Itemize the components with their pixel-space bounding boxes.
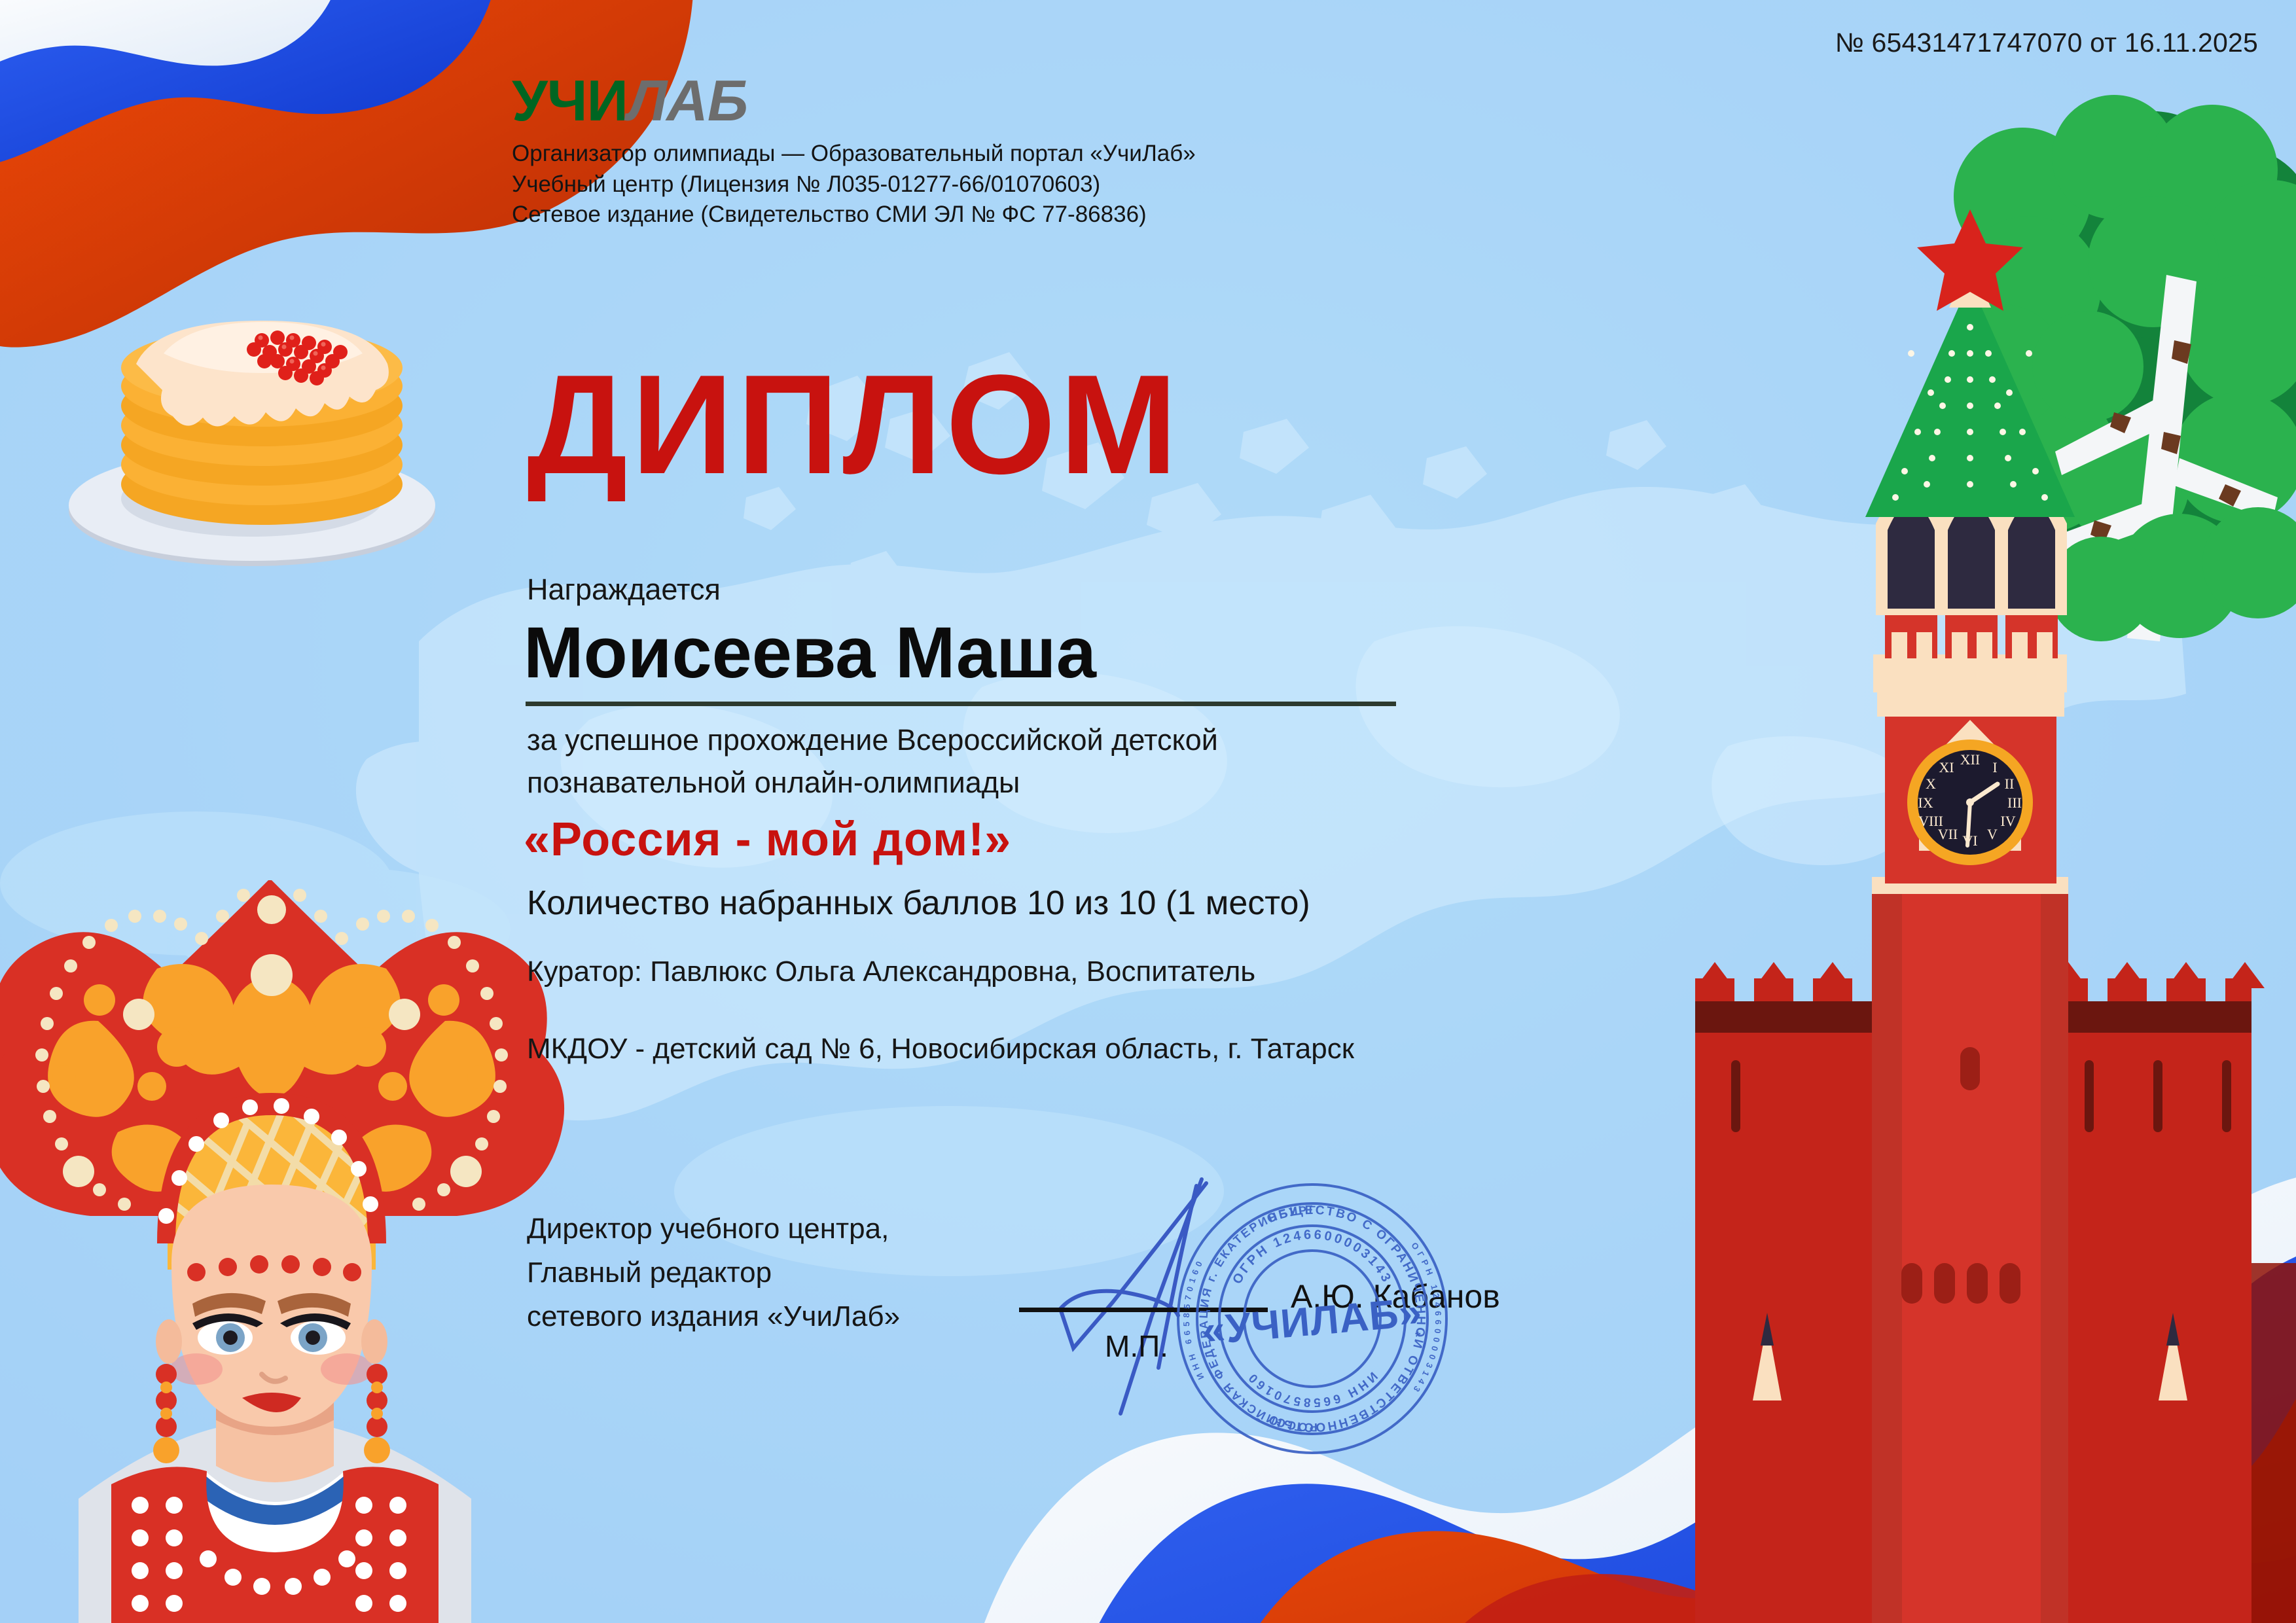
svg-text:IV: IV: [2000, 813, 2015, 829]
brand-line-license: Учебный центр (Лицензия № Л035-01277-66/…: [512, 169, 1196, 200]
award-reason-line-1: за успешное прохождение Всероссийской де…: [527, 719, 1218, 761]
svg-text:ИНН 6658570160: ИНН 6658570160: [1244, 1369, 1380, 1409]
brand-line-smi: Сетевое издание (Свидетельство СМИ ЭЛ № …: [512, 200, 1196, 230]
official-stamp: ОБЩЕСТВО С ОГРАНИЧЕННОЙ ОТВЕТСТВЕННОСТЬЮ…: [1172, 1178, 1453, 1459]
mp-label: М.П.: [1105, 1329, 1168, 1364]
logo-text-gray: ЛАБ: [628, 68, 747, 133]
award-reason-line-2: познавательной онлайн-олимпиады: [527, 761, 1218, 804]
document-number: № 65431471747070 от 16.11.2025: [1835, 27, 2258, 58]
page-title: ДИПЛОМ: [527, 353, 1181, 495]
school-line: МКДОУ - детский сад № 6, Новосибирская о…: [527, 1033, 1354, 1065]
name-underline: [526, 702, 1396, 706]
award-reason: за успешное прохождение Всероссийской де…: [527, 719, 1218, 804]
brand-info-lines: Организатор олимпиады — Образовательный …: [512, 139, 1196, 230]
signatory-title-line-1: Директор учебного центра,: [527, 1207, 900, 1251]
uchilab-logo[interactable]: УЧИЛАБ: [512, 72, 1196, 130]
awarded-label: Награждается: [527, 573, 721, 607]
brand-line-organizer: Организатор олимпиады — Образовательный …: [512, 139, 1196, 169]
logo-text-green: УЧИ: [512, 68, 628, 133]
brand-block: УЧИЛАБ Организатор олимпиады — Образоват…: [512, 72, 1196, 230]
signatory-title: Директор учебного центра, Главный редакт…: [527, 1207, 900, 1339]
winner-name: Моисеева Маша: [524, 615, 1096, 691]
score-line: Количество набранных баллов 10 из 10 (1 …: [527, 883, 1310, 923]
svg-text:III: III: [2007, 794, 2022, 811]
svg-text:IX: IX: [1918, 794, 1933, 811]
svg-text:VIII: VIII: [1918, 813, 1943, 829]
svg-text:X: X: [1926, 776, 1936, 792]
stamp-inn-arc: ИНН 6658570160: [1244, 1369, 1380, 1409]
svg-text:I: I: [1992, 759, 1997, 776]
svg-text:XII: XII: [1960, 751, 1981, 768]
curator-line: Куратор: Павлюкс Ольга Александровна, Во…: [527, 955, 1255, 988]
olympiad-title: «Россия - мой дом!»: [524, 813, 1011, 866]
signatory-title-line-3: сетевого издания «УчиЛаб»: [527, 1295, 900, 1339]
svg-text:VI: VI: [1962, 832, 1977, 849]
certificate-artwork: XII I II III IV V VI VII VIII IX X XI: [0, 0, 2296, 1623]
svg-text:V: V: [1987, 826, 1998, 842]
svg-text:XI: XI: [1939, 759, 1954, 776]
svg-text:II: II: [2005, 776, 2015, 792]
signatory-title-line-2: Главный редактор: [527, 1251, 900, 1295]
stamp-ogrn-arc: ОГРН 1246600003143: [1230, 1228, 1395, 1287]
svg-text:ОГРН 1246600003143: ОГРН 1246600003143: [1230, 1228, 1395, 1287]
certificate-page: XII I II III IV V VI VII VIII IX X XI: [0, 0, 2296, 1623]
